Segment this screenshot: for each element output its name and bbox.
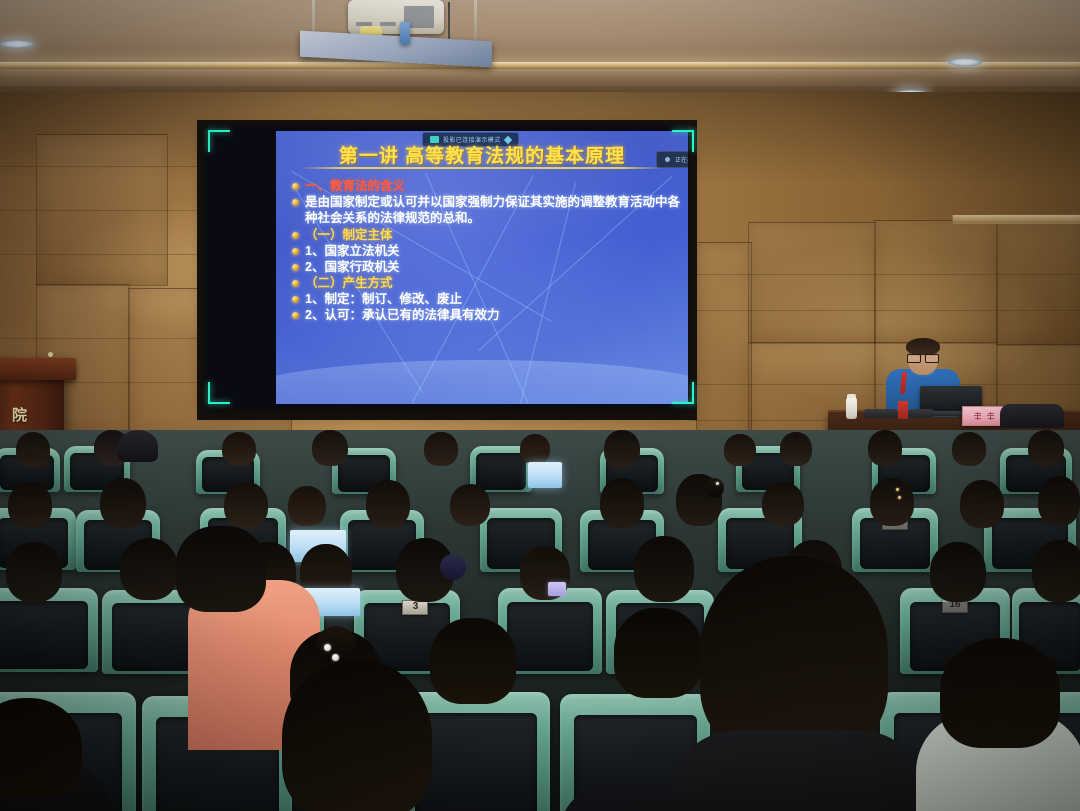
downlight-icon <box>948 58 982 66</box>
emblem-text: 院 <box>12 404 27 425</box>
microphone-icon <box>48 352 53 357</box>
attendee-head <box>600 478 644 528</box>
projector-vent <box>380 22 396 26</box>
red-cup[interactable] <box>898 401 908 419</box>
list-item: （二）产生方式 <box>292 276 682 290</box>
attendee-head <box>604 430 640 468</box>
bullet-text: 1、国家立法机关 <box>305 244 399 258</box>
system-toast-notification[interactable]: 正在共享 中标麒麟版 ✕ <box>656 151 688 168</box>
bullet-icon <box>292 264 299 271</box>
list-item: 是由国家制定或认可并以国家强制力保证其实施的调整教育活动中各种社会关系的法律规范… <box>292 195 682 226</box>
wall-seam <box>690 274 1080 275</box>
attendee-head <box>288 486 326 526</box>
attendee-head <box>960 480 1004 528</box>
attendee-head <box>1038 476 1080 526</box>
presentation-slide: 投影已连接演示模式 第一讲 高等教育法规的基本原理 一、教育法的含义 是由国家制… <box>276 131 688 404</box>
toast-label: 正在共享 中标麒麟版 <box>675 155 688 164</box>
attendee-head <box>724 434 756 466</box>
attendee-head <box>450 484 490 526</box>
hair-clip-icon <box>324 644 331 651</box>
wall-panel <box>874 220 998 344</box>
ceiling-light-strip <box>0 62 1080 69</box>
bullet-icon <box>292 248 299 255</box>
lecturer-hair <box>906 338 940 355</box>
attendee-head <box>222 432 256 466</box>
nameplate-text: 孟 亮 <box>984 416 985 417</box>
glasses-icon <box>907 354 939 361</box>
bullet-icon <box>292 232 299 239</box>
attendee-head <box>224 482 268 528</box>
attendee-phone-screen <box>548 582 566 596</box>
bullet-icon <box>292 183 299 190</box>
attendee-head <box>312 430 348 466</box>
hair-clip-icon <box>332 654 339 661</box>
bullet-icon <box>292 199 299 206</box>
attendee-head-cap <box>118 430 158 462</box>
lecture-hall-photo: 投影已连接演示模式 第一讲 高等教育法规的基本原理 一、教育法的含义 是由国家制… <box>0 0 1080 811</box>
wall-seam <box>690 310 1080 311</box>
slide-title: 第一讲 高等教育法规的基本原理 <box>276 141 688 168</box>
downlight-icon <box>0 40 34 48</box>
nameplate-glyph <box>974 412 982 421</box>
bullet-text: 是由国家制定或认可并以国家强制力保证其实施的调整教育活动中各种社会关系的法律规范… <box>305 195 682 226</box>
attendee-head <box>176 526 266 612</box>
projector-connector-block <box>400 22 410 44</box>
attendee-torso <box>668 730 928 811</box>
bullet-text: 2、认可：承认已有的法律具有效力 <box>305 308 499 322</box>
ceiling <box>0 0 1080 92</box>
slide-bullet-list: 一、教育法的含义 是由国家制定或认可并以国家强制力保证其实施的调整教育活动中各种… <box>292 179 682 324</box>
list-item: 2、认可：承认已有的法律具有效力 <box>292 308 682 322</box>
bullet-text: 2、国家行政机关 <box>305 260 399 274</box>
attendee-head <box>366 480 410 528</box>
seat-back-panel <box>507 602 592 671</box>
desk-clutter <box>864 409 898 418</box>
list-item: 1、国家立法机关 <box>292 244 682 258</box>
bullet-icon <box>292 280 299 287</box>
hair-clip-icon <box>716 482 719 485</box>
attendee-head <box>634 536 694 602</box>
attendee-head <box>930 542 986 602</box>
desk-clutter <box>908 409 934 418</box>
attendee-head <box>100 478 146 528</box>
attendee-laptop-screen <box>528 462 562 488</box>
seat-back-panel <box>415 713 536 811</box>
water-bottle[interactable] <box>846 398 857 419</box>
nameplate-glyph <box>987 412 995 421</box>
wall-vent-strip <box>952 214 1080 224</box>
wall-seam <box>690 384 1080 385</box>
attendee-head <box>870 478 914 526</box>
attendee-head <box>780 432 812 466</box>
attendee-head <box>520 434 550 464</box>
list-item: （一）制定主体 <box>292 228 682 242</box>
bullet-text: （二）产生方式 <box>305 276 393 290</box>
attendee-head <box>120 538 178 600</box>
wall-seam <box>0 166 200 167</box>
seat-number-plate: 3 <box>402 600 428 615</box>
podium-top-surface <box>0 358 76 380</box>
attendee-head-foreground <box>940 638 1060 748</box>
attendee-head <box>614 608 702 698</box>
bullet-text: （一）制定主体 <box>305 228 393 242</box>
attendee-head <box>868 430 902 466</box>
lecturer-chair <box>1000 404 1064 428</box>
audience-area: 15 3 16 <box>0 430 1080 811</box>
wall-panel <box>996 220 1080 346</box>
wall-seam <box>0 210 200 211</box>
attendee-head <box>1032 540 1080 602</box>
wall-panel <box>748 222 876 344</box>
slide-decor-arc <box>276 360 688 404</box>
hair-bun <box>704 478 724 498</box>
attendee-head <box>8 482 52 528</box>
seat-back-panel <box>476 453 527 490</box>
hair-clip-icon <box>896 488 899 491</box>
bullet-text: 一、教育法的含义 <box>305 179 405 193</box>
attendee-head <box>1028 430 1064 466</box>
list-item: 2、国家行政机关 <box>292 260 682 274</box>
wall-panel <box>696 242 752 444</box>
hair-bun <box>440 554 466 580</box>
wall-seam <box>0 254 200 255</box>
attendee-head <box>762 482 804 526</box>
attendee-head-foreground <box>282 660 432 811</box>
bullet-icon <box>292 296 299 303</box>
attendee-head <box>424 432 458 466</box>
attendee-head <box>952 432 986 466</box>
attendee-head <box>16 432 50 468</box>
attendee-head <box>430 618 516 704</box>
attendee-head-foreground <box>700 556 888 756</box>
list-item: 一、教育法的含义 <box>292 179 682 193</box>
bullet-icon <box>292 312 299 319</box>
hair-clip-icon <box>898 496 901 499</box>
info-icon <box>665 157 670 162</box>
bullet-text: 1、制定：制订、修改、废止 <box>305 292 462 306</box>
list-item: 1、制定：制订、修改、废止 <box>292 292 682 306</box>
slide-title-underline <box>300 167 664 169</box>
